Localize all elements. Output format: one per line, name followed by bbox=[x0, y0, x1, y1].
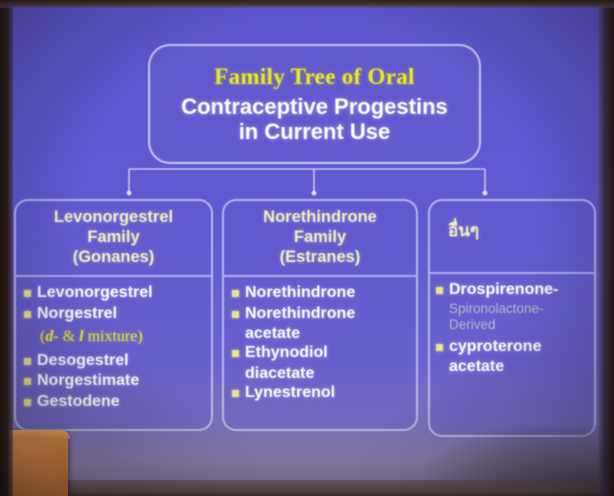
title-line-3: in Current Use bbox=[181, 119, 448, 144]
column-body-levonorgestrel: Levonorgestrel Norgestrel (d- & l mixtur… bbox=[16, 277, 211, 411]
bullet-square-icon bbox=[436, 287, 443, 294]
bullet-square-icon bbox=[24, 399, 31, 406]
bullet-square-icon bbox=[24, 378, 31, 385]
column-body-norethindrone: Norethindrone Norethindrone acetate Ethy… bbox=[224, 277, 416, 402]
column-header-line-1: Norethindrone bbox=[230, 208, 410, 228]
screen-edge-top bbox=[0, 0, 614, 8]
column-header-line-1: อื่นๆ bbox=[448, 221, 588, 241]
screen-bottom-edge bbox=[0, 480, 614, 496]
bullet-square-icon bbox=[232, 311, 239, 318]
list-item: Norgestimate bbox=[24, 371, 207, 390]
list-item-subtext: Spironolactone- bbox=[449, 301, 590, 317]
list-item-continuation: acetate bbox=[449, 357, 590, 376]
column-header-line-2: Family bbox=[22, 228, 205, 248]
bullet-square-icon bbox=[232, 350, 239, 357]
title-line-2a: Contraceptive Progestins bbox=[181, 94, 448, 119]
list-item-label: Norethindrone bbox=[245, 304, 355, 323]
list-item-label: Norgestrel bbox=[37, 304, 117, 323]
list-item: Norethindrone bbox=[232, 283, 412, 302]
list-item: Gestodene bbox=[24, 392, 207, 411]
title-line-1: Family Tree of Oral bbox=[214, 64, 415, 90]
list-item: cyproterone bbox=[436, 337, 590, 356]
slide-photo-screenshot: Family Tree of Oral Contraceptive Proges… bbox=[0, 0, 614, 496]
column-header-line-2: Family bbox=[230, 228, 410, 248]
list-item-label: Levonorgestrel bbox=[37, 283, 153, 302]
list-item: Norethindrone bbox=[232, 304, 412, 323]
screen-edge-left bbox=[0, 0, 13, 496]
column-header-others: อื่นๆ bbox=[430, 201, 594, 241]
list-item-label: Lynestrenol bbox=[245, 383, 335, 402]
list-item: Ethynodiol bbox=[232, 343, 412, 362]
list-item-label: cyproterone bbox=[449, 337, 541, 356]
title-line-2: Contraceptive Progestins in Current Use bbox=[181, 94, 448, 144]
column-body-others: Drospirenone- Spironolactone- Derived cy… bbox=[430, 274, 594, 376]
screen-edge-right bbox=[598, 0, 614, 496]
slide-content: Family Tree of Oral Contraceptive Proges… bbox=[0, 0, 614, 496]
bullet-square-icon bbox=[436, 344, 443, 351]
list-item-continuation: diacetate bbox=[245, 364, 412, 383]
list-item: Levonorgestrel bbox=[24, 283, 207, 302]
bullet-square-icon bbox=[24, 290, 31, 297]
column-others: อื่นๆ Drospirenone- Spironolactone- Deri… bbox=[428, 199, 596, 437]
list-item-label: Norgestimate bbox=[37, 371, 139, 390]
bullet-square-icon bbox=[232, 290, 239, 297]
list-item-label: Drospirenone- bbox=[449, 280, 558, 299]
column-norethindrone-family: Norethindrone Family (Estranes) Norethin… bbox=[222, 199, 418, 431]
list-item: Desogestrel bbox=[24, 351, 207, 370]
connector-dot-middle bbox=[312, 191, 317, 196]
column-header-norethindrone: Norethindrone Family (Estranes) bbox=[224, 201, 416, 267]
list-item: Norgestrel bbox=[24, 304, 207, 323]
column-header-line-3: (Estranes) bbox=[230, 248, 410, 268]
list-item-label: Desogestrel bbox=[37, 351, 129, 370]
bullet-square-icon bbox=[232, 390, 239, 397]
list-item-label: Norethindrone bbox=[245, 283, 355, 302]
bullet-square-icon bbox=[24, 358, 31, 365]
list-item-subtext: Derived bbox=[449, 317, 590, 333]
column-header-line-1: Levonorgestrel bbox=[22, 208, 205, 228]
mixture-note-label: (d- & l mixture) bbox=[40, 328, 143, 345]
list-item: Drospirenone- bbox=[436, 280, 590, 299]
connector-dot-left bbox=[127, 191, 132, 196]
column-header-line-3: (Gonanes) bbox=[22, 248, 205, 268]
list-item: Lynestrenol bbox=[232, 383, 412, 402]
title-box: Family Tree of Oral Contraceptive Proges… bbox=[148, 44, 481, 164]
list-item-continuation: acetate bbox=[245, 324, 412, 343]
bullet-square-icon bbox=[24, 311, 31, 318]
column-levonorgestrel-family: Levonorgestrel Family (Gonanes) Levonorg… bbox=[14, 199, 213, 431]
list-item-label: Ethynodiol bbox=[245, 343, 328, 362]
column-header-levonorgestrel: Levonorgestrel Family (Gonanes) bbox=[16, 201, 211, 267]
connector-dot-right bbox=[483, 191, 488, 196]
mixture-note: (d- & l mixture) bbox=[40, 328, 207, 346]
list-item-label: Gestodene bbox=[37, 392, 120, 411]
